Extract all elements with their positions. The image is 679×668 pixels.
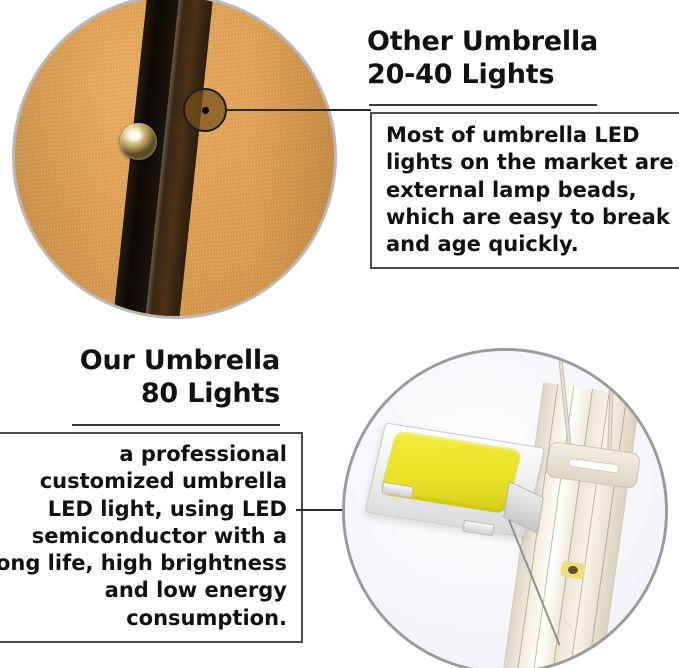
lamp-bead-rivet	[120, 123, 157, 160]
solder-dot	[568, 566, 579, 575]
canopy-shadow-right	[226, 0, 334, 316]
infographic-page: Other Umbrella 20-40 Lights Most of umbr…	[0, 0, 679, 668]
photo-smd-led-strip	[342, 348, 668, 668]
leader-line-other-icon	[226, 109, 371, 111]
callout-dot-center-icon	[202, 107, 209, 114]
strip-seam	[569, 392, 611, 668]
heading-other-umbrella: Other Umbrella 20-40 Lights	[367, 26, 667, 92]
heading-other-line2: 20-40 Lights	[367, 59, 667, 92]
body-box-other: Most of umbrella LED lights on the marke…	[370, 112, 679, 269]
heading-ours-line2: 80 Lights	[28, 378, 280, 411]
photo-umbrella-canopy	[12, 0, 337, 319]
rivet-glint	[128, 130, 142, 141]
heading-our-umbrella: Our Umbrella 80 Lights	[28, 345, 280, 411]
heading-other-line1: Other Umbrella	[367, 26, 667, 59]
divider-ours	[72, 424, 280, 426]
clamp-slot	[567, 457, 620, 474]
callout-dot-lamp-bead-icon	[183, 88, 227, 132]
body-text-ours: a professional customized umbrella LED l…	[0, 441, 287, 632]
body-text-other: Most of umbrella LED lights on the marke…	[386, 122, 679, 258]
solder-pad	[560, 561, 586, 580]
body-box-ours: a professional customized umbrella LED l…	[0, 432, 303, 643]
heading-ours-line1: Our Umbrella	[28, 345, 280, 378]
divider-other	[369, 104, 597, 106]
strip-seam	[551, 389, 593, 668]
